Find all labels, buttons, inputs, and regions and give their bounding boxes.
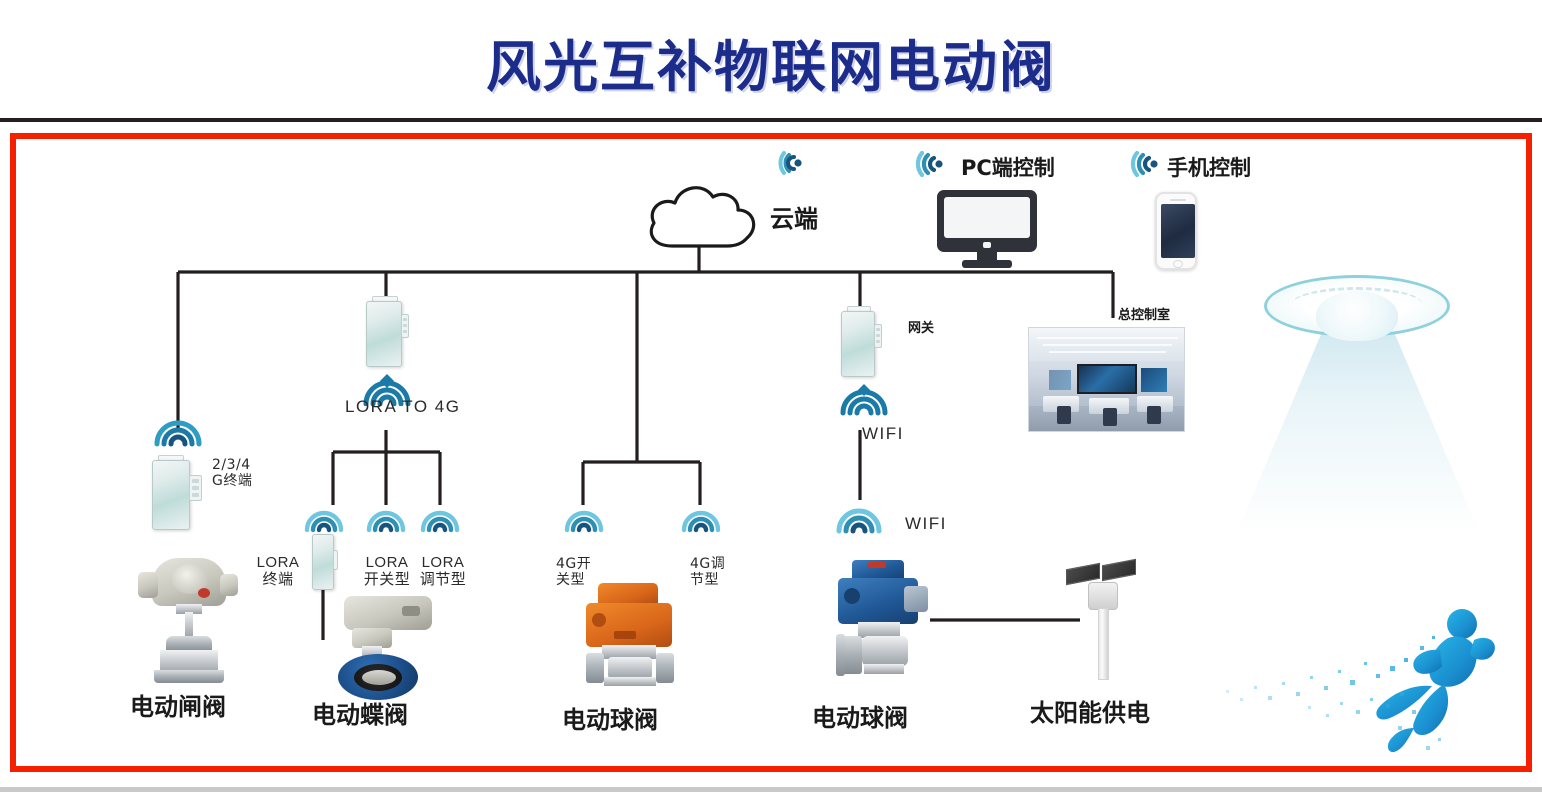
pc-control-label: PC端控制: [961, 157, 1055, 181]
electric-butterfly-valve-icon: [318, 596, 436, 701]
terminal-device-icon: [152, 455, 204, 533]
ball-valve-blue-label: 电动球阀: [812, 705, 908, 732]
lora-node-icon: [312, 534, 338, 590]
running-man-particle-graphic: [1190, 600, 1520, 770]
solar-power-label: 太阳能供电: [1030, 700, 1150, 727]
gate-valve-label: 电动闸阀: [130, 694, 226, 721]
control-room-label: 总控制室: [1118, 309, 1170, 324]
wifi-gateway-protocol-label: WIFI: [862, 424, 904, 443]
electric-ball-valve-icon: [578, 583, 698, 693]
gateway-label: 网关: [908, 322, 934, 337]
smartphone-icon: [1155, 192, 1197, 270]
gateway-device-icon: [366, 296, 408, 370]
gateway-device-icon: [841, 306, 883, 380]
wifi-fan-icon: [365, 505, 407, 538]
mobile-control-label: 手机控制: [1167, 157, 1251, 181]
lora-switch-label: LORA 开关型: [356, 555, 418, 589]
architecture-diagram: 云端 PC端控制: [0, 0, 1542, 809]
ufo-beam-graphic: [1228, 275, 1488, 535]
monitor-stand: [937, 252, 1037, 268]
lora-to-4g-label: LORA TO 4G: [345, 397, 460, 416]
ball-valve-orange-label: 电动球阀: [562, 707, 658, 734]
control-room-photo: [1028, 327, 1185, 432]
electric-gate-valve-icon: [132, 558, 247, 683]
wifi-signal-icon: [774, 143, 814, 188]
butterfly-valve-label: 电动蝶阀: [312, 702, 408, 729]
wifi-fan-icon: [835, 503, 883, 540]
solar-pole-icon: [1060, 560, 1150, 680]
lora-modulating-label: LORA 调节型: [411, 555, 475, 589]
cloud-icon: [642, 176, 762, 255]
wifi-fan-icon: [680, 505, 722, 538]
cellular-terminal-label: 2/3/4 G终端: [212, 458, 252, 489]
wifi-fan-icon: [838, 382, 890, 421]
wifi-fan-icon: [419, 505, 461, 538]
wifi-fan-icon: [152, 414, 204, 453]
wifi-signal-icon: [1128, 143, 1170, 190]
4g-modulating-label: 4G调 节型: [690, 557, 744, 588]
wifi-node-label: WIFI: [905, 514, 947, 533]
lora-terminal-label: LORA 终端: [248, 555, 308, 589]
wifi-fan-icon: [563, 505, 605, 538]
cloud-label: 云端: [770, 206, 818, 233]
wifi-signal-icon: [913, 143, 955, 190]
electric-ball-valve-icon: [824, 560, 942, 688]
